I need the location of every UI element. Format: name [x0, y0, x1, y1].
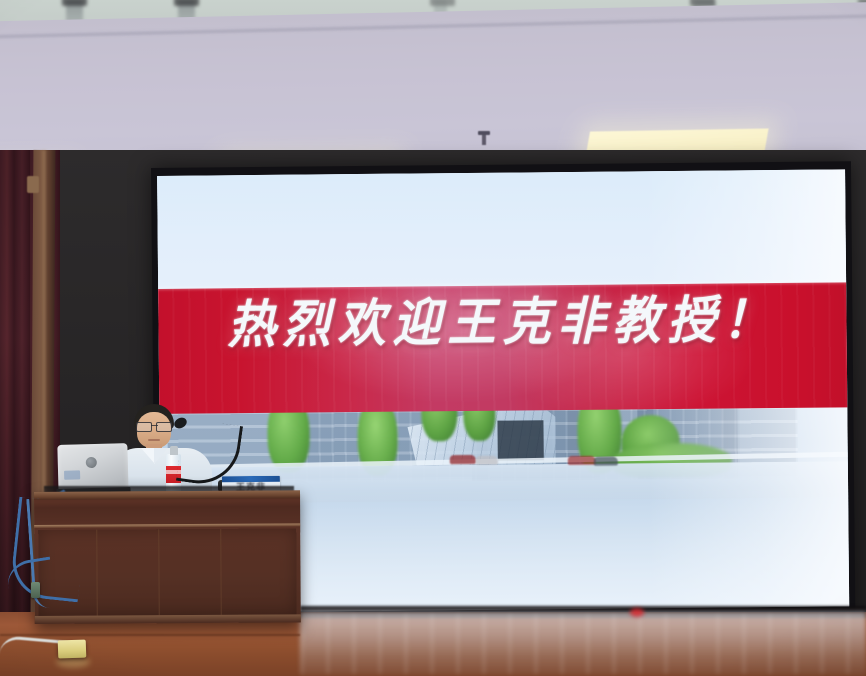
parked-car [476, 456, 498, 465]
lecture-hall-photo: 热烈欢迎王克非教授！ 王克非 [0, 0, 866, 676]
podium-top-rail [34, 490, 300, 500]
glasses-icon [136, 422, 172, 430]
floor-red-reflection [630, 608, 644, 617]
welcome-banner-headline: 热烈欢迎王克非教授！ [158, 294, 846, 351]
parked-car [594, 457, 618, 466]
glasses-bridge [151, 425, 158, 426]
podium-base-trim [35, 614, 301, 624]
floor-reflection-streaks [300, 614, 866, 674]
building-entrance [497, 420, 543, 460]
speaker-mouth [148, 439, 160, 441]
wall-bracket [27, 176, 39, 193]
floor-seam [0, 634, 300, 636]
ceiling-mount-pin [482, 131, 486, 145]
power-adapter-box [58, 640, 87, 659]
parked-car [568, 456, 596, 465]
cable-connector-box [31, 582, 40, 598]
laptop-sticker [64, 470, 80, 479]
parked-car [450, 455, 476, 464]
